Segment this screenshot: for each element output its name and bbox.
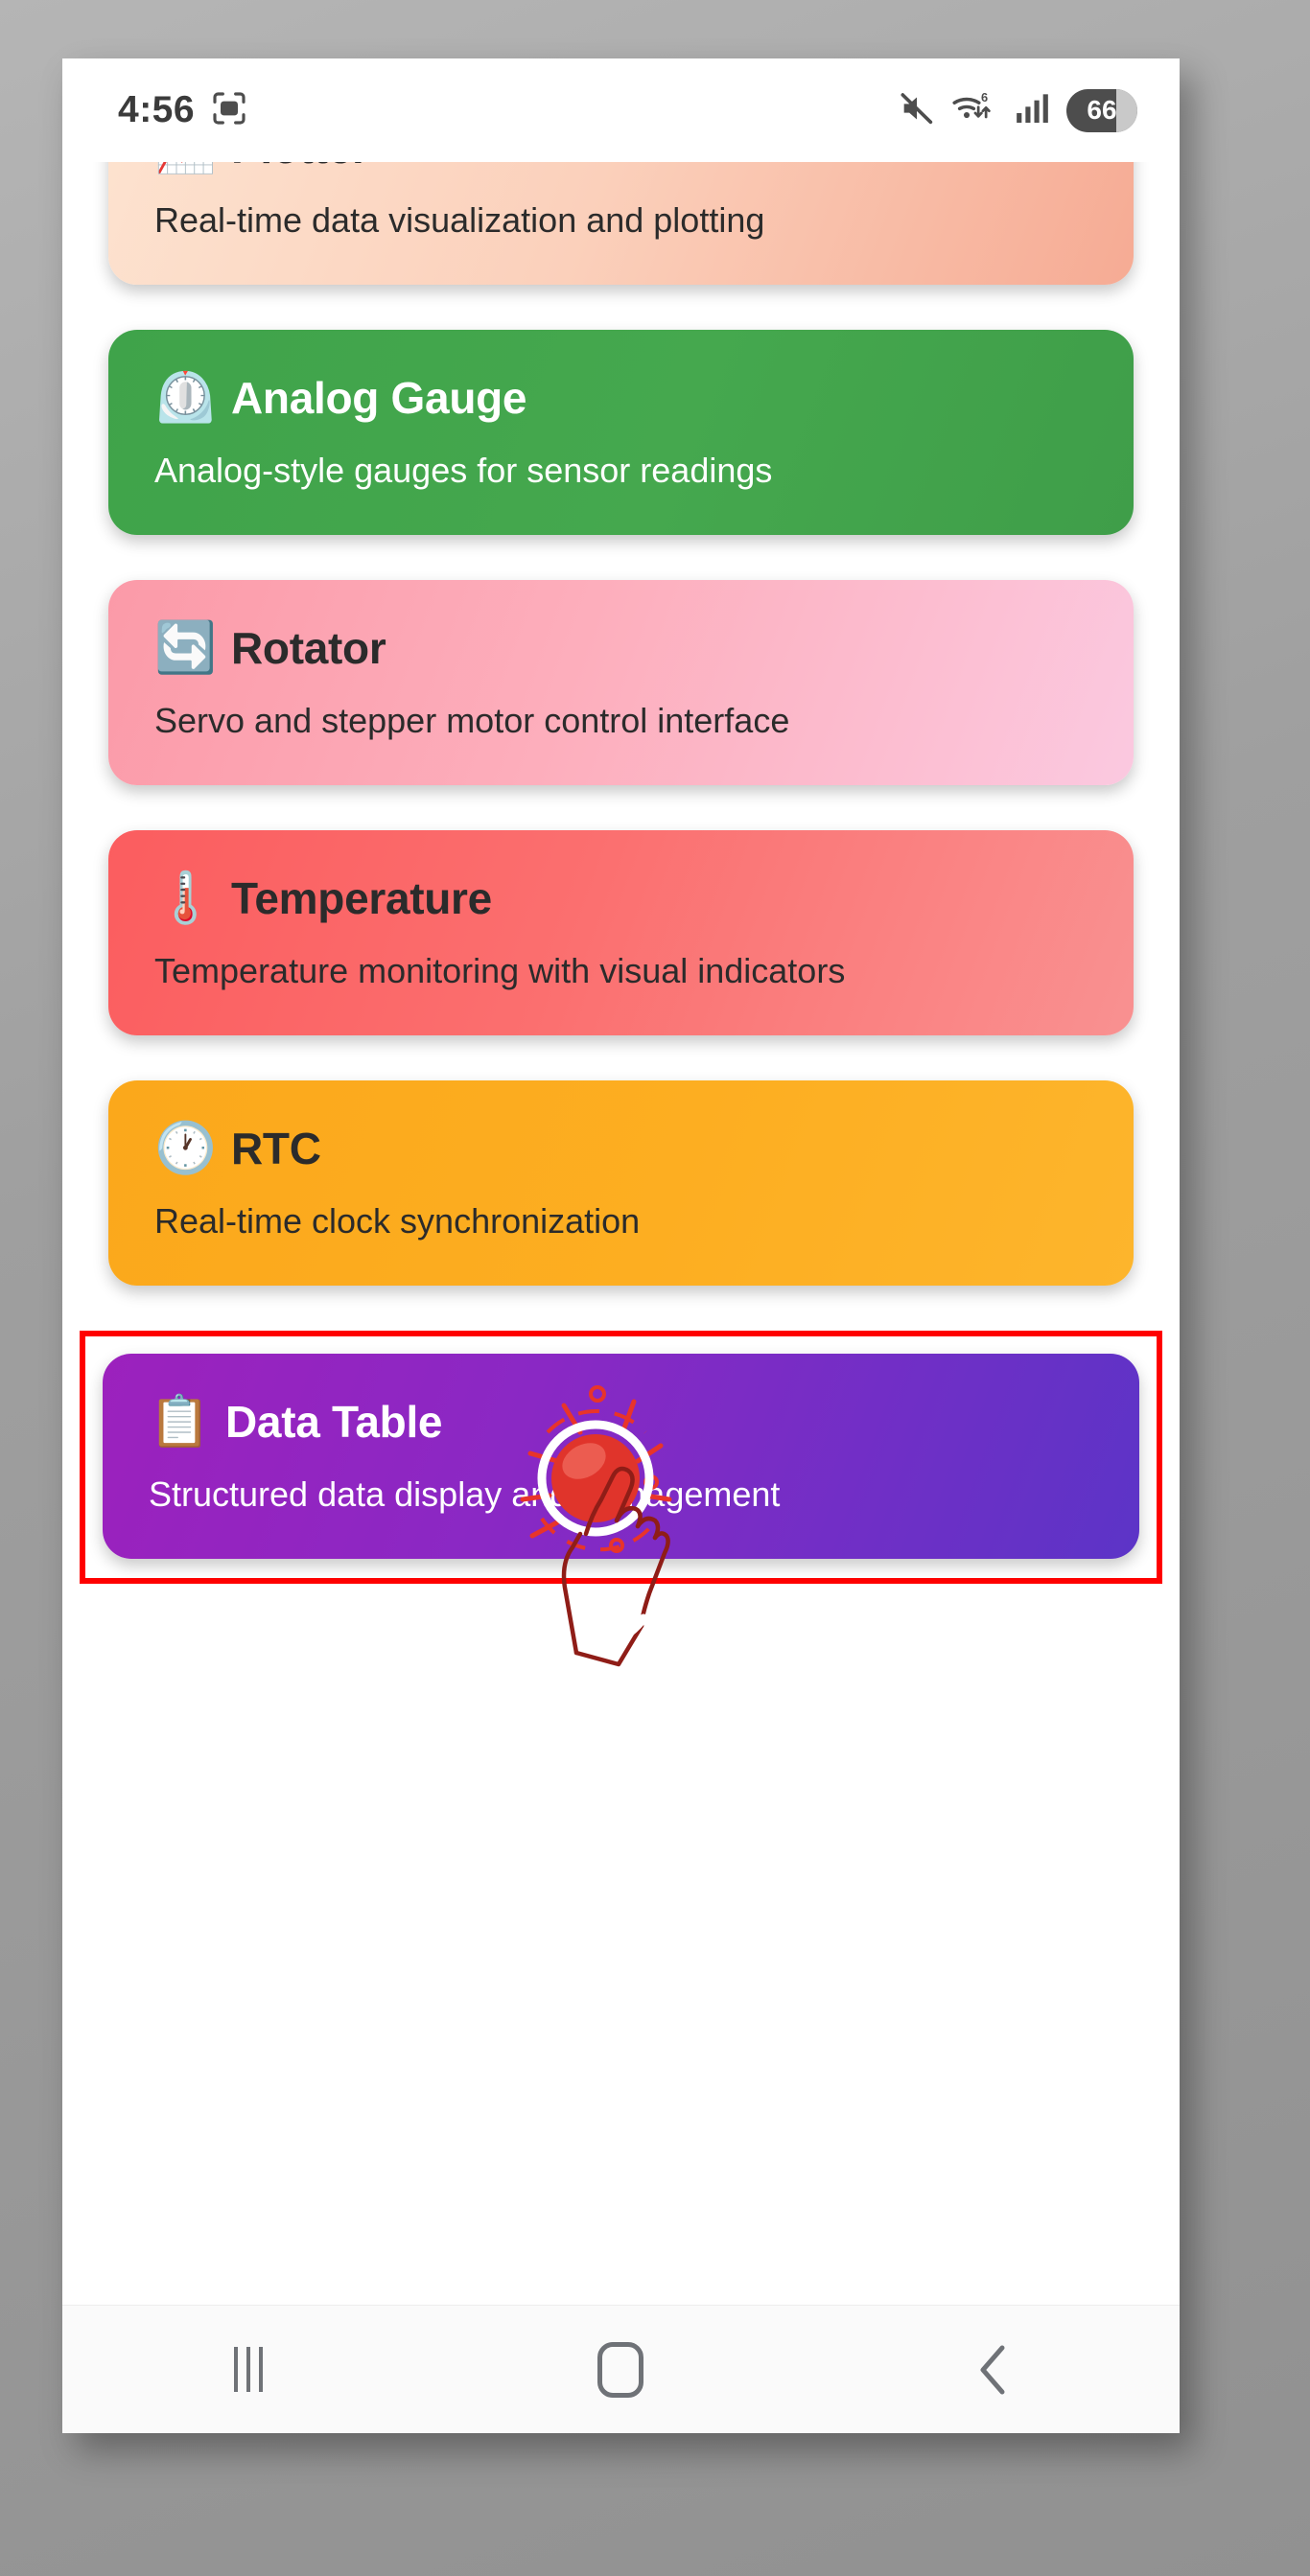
- card-rtc-head: 🕐 RTC: [154, 1123, 1088, 1174]
- card-rotator[interactable]: 🔄 Rotator Servo and stepper motor contro…: [108, 580, 1134, 785]
- card-rotator-title: Rotator: [231, 622, 386, 674]
- card-plotter[interactable]: 📈 Plotter Real-time data visualization a…: [108, 162, 1134, 285]
- back-button[interactable]: [917, 2322, 1070, 2418]
- card-plotter-head: 📈 Plotter: [154, 162, 1088, 174]
- android-navigation-bar: [62, 2305, 1180, 2433]
- selection-highlight-box: 📋 Data Table Structured data display and…: [80, 1331, 1162, 1584]
- card-rtc-title: RTC: [231, 1123, 321, 1174]
- card-data-table-desc: Structured data display and management: [149, 1474, 1093, 1515]
- card-data-table-head: 📋 Data Table: [149, 1396, 1093, 1448]
- counterclockwise-arrows-icon: 🔄: [154, 623, 210, 673]
- home-icon: [597, 2342, 643, 2398]
- card-plotter-title: Plotter: [231, 162, 369, 174]
- mute-icon: [898, 89, 936, 132]
- screenshot-capture-icon: [210, 89, 248, 132]
- clock-icon: 🕐: [154, 1124, 210, 1173]
- card-data-table-title: Data Table: [225, 1396, 442, 1448]
- wifi-6-icon: 6: [951, 89, 997, 132]
- card-analog-gauge-title: Analog Gauge: [231, 372, 526, 424]
- card-data-table[interactable]: 📋 Data Table Structured data display and…: [103, 1354, 1139, 1559]
- card-temperature-title: Temperature: [231, 872, 492, 924]
- card-temperature-desc: Temperature monitoring with visual indic…: [154, 951, 1088, 991]
- svg-text:6: 6: [981, 89, 988, 104]
- battery-indicator: 66: [1066, 89, 1137, 132]
- status-bar-right: 6 66: [898, 89, 1137, 132]
- card-temperature[interactable]: 🌡️ Temperature Temperature monitoring wi…: [108, 830, 1134, 1035]
- cellular-signal-icon: [1013, 89, 1051, 132]
- thermometer-icon: 🌡️: [154, 873, 210, 923]
- card-analog-gauge-desc: Analog-style gauges for sensor readings: [154, 451, 1088, 491]
- recents-button[interactable]: [172, 2322, 325, 2418]
- card-rtc-desc: Real-time clock synchronization: [154, 1201, 1088, 1242]
- phone-frame: 4:56: [62, 58, 1180, 2433]
- back-chevron-icon: [968, 2340, 1019, 2400]
- card-rotator-head: 🔄 Rotator: [154, 622, 1088, 674]
- footer-zone: Created by DIYables: [62, 2223, 1180, 2433]
- status-bar: 4:56: [62, 58, 1180, 162]
- chart-increasing-icon: 📈: [154, 162, 210, 173]
- clipboard-icon: 📋: [149, 1397, 204, 1447]
- battery-percent-label: 66: [1087, 95, 1116, 126]
- card-rotator-desc: Servo and stepper motor control interfac…: [154, 701, 1088, 741]
- card-temperature-head: 🌡️ Temperature: [154, 872, 1088, 924]
- status-bar-left: 4:56: [118, 89, 248, 132]
- card-analog-gauge[interactable]: ⏲️ Analog Gauge Analog-style gauges for …: [108, 330, 1134, 535]
- home-button[interactable]: [544, 2322, 697, 2418]
- recents-icon: [234, 2347, 263, 2392]
- card-rtc[interactable]: 🕐 RTC Real-time clock synchronization: [108, 1080, 1134, 1286]
- status-time: 4:56: [118, 89, 195, 131]
- timer-clock-icon: ⏲️: [154, 373, 210, 423]
- card-analog-gauge-head: ⏲️ Analog Gauge: [154, 372, 1088, 424]
- card-plotter-desc: Real-time data visualization and plottin…: [154, 200, 1088, 241]
- feature-card-list[interactable]: 📈 Plotter Real-time data visualization a…: [62, 162, 1180, 2223]
